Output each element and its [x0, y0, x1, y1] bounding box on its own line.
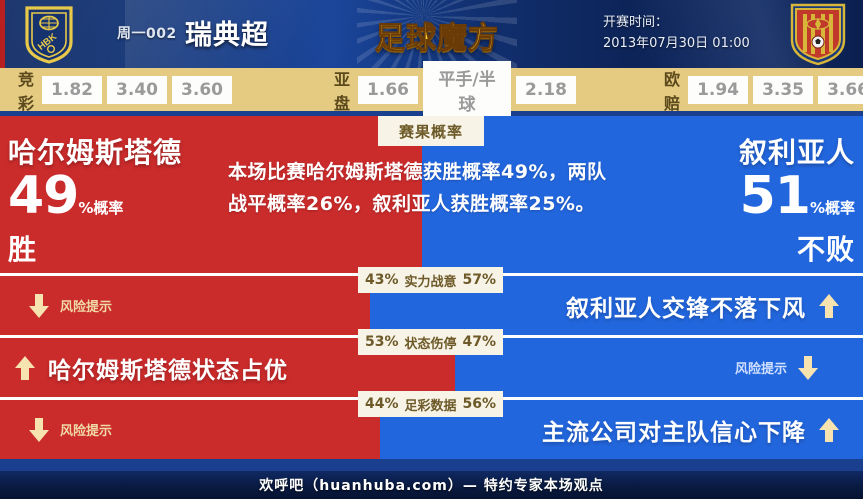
arrow-down-icon: [28, 293, 50, 319]
odds-group-oupei: 欧赔 1.94 3.35 3.66: [664, 66, 863, 114]
away-percent-value: 51: [740, 166, 810, 226]
home-percent-line: 49%概率: [8, 170, 223, 234]
row1-metric-label: 实力战意: [405, 271, 457, 290]
header-bar: HBK 周一002 瑞典超 足球魔方 开赛时间： 2013年07月30日 01:…: [0, 0, 863, 68]
away-percent-line: 51%概率: [640, 170, 855, 234]
row1-right-percent: 57%: [463, 272, 497, 288]
comparison-row-betting: 44% 足彩数据 56% 风险提示 主流公司对主队信心下降: [0, 400, 863, 459]
halmstad-crest-icon: HBK: [21, 4, 77, 64]
odds-bar: 竞彩 1.82 3.40 3.60 亚盘 1.66 平手/半球 2.18 欧赔 …: [0, 68, 863, 111]
row3-home-risk: 风险提示: [28, 400, 112, 459]
away-verdict: 不败: [640, 234, 855, 266]
probability-panel: 赛果概率 哈尔姆斯塔德 49%概率 胜 本场比赛哈尔姆斯塔德获胜概率49%，两队…: [0, 116, 863, 273]
row1-away-label: 叙利亚人交锋不落下风: [566, 289, 806, 323]
row3-left-percent: 44%: [365, 396, 399, 412]
row1-home-risk-label: 风险提示: [60, 296, 112, 315]
brand-logo-text: 足球魔方: [357, 13, 517, 57]
odds-group-jingcai: 竞彩 1.82 3.40 3.60: [18, 66, 237, 114]
odds-cell-jingcai-2[interactable]: 3.40: [107, 76, 167, 104]
odds-cell-oupei-1[interactable]: 1.94: [688, 76, 748, 104]
infographic-root: HBK 周一002 瑞典超 足球魔方 开赛时间： 2013年07月30日 01:…: [0, 0, 863, 499]
league-name: 瑞典超: [185, 13, 269, 52]
odds-label-oupei: 欧赔: [664, 66, 681, 114]
match-number: 周一002: [117, 23, 177, 43]
row2-metric-label: 状态伤停: [405, 333, 457, 352]
home-percent-suffix: %概率: [78, 199, 123, 217]
odds-cell-yapan-2[interactable]: 2.18: [516, 76, 576, 104]
kickoff-value: 2013年07月30日 01:00: [603, 33, 783, 54]
away-summary-block: 叙利亚人 51%概率 不败: [640, 136, 855, 266]
odds-cell-jingcai-3[interactable]: 3.60: [172, 76, 232, 104]
row1-metric-chip: 43% 实力战意 57%: [358, 267, 503, 293]
footer-credit: 欢呼吧（huanhuba.com）— 特约专家本场观点: [259, 475, 603, 495]
row2-home-text: 哈尔姆斯塔德状态占优: [14, 338, 344, 397]
match-summary-text: 本场比赛哈尔姆斯塔德获胜概率49%，两队战平概率26%，叙利亚人获胜概率25%。: [228, 156, 623, 220]
odds-cell-jingcai-1[interactable]: 1.82: [42, 76, 102, 104]
row3-away-label: 主流公司对主队信心下降: [542, 413, 806, 447]
home-percent-value: 49: [8, 166, 78, 226]
syrianska-crest-icon: [787, 2, 849, 66]
row3-metric-chip: 44% 足彩数据 56%: [358, 391, 503, 417]
row2-away-risk-label: 风险提示: [735, 358, 787, 377]
odds-cell-yapan-handicap[interactable]: 平手/半球: [423, 61, 511, 119]
footer-bar: 欢呼吧（huanhuba.com）— 特约专家本场观点: [0, 471, 863, 499]
row1-left-percent: 43%: [365, 272, 399, 288]
home-team-name: 哈尔姆斯塔德: [8, 136, 223, 170]
arrow-down-icon: [797, 355, 819, 381]
row3-metric-label: 足彩数据: [405, 395, 457, 414]
home-verdict: 胜: [8, 234, 223, 266]
comparison-row-form: 53% 状态伤停 47% 哈尔姆斯塔德状态占优 风险提示: [0, 338, 863, 397]
odds-cell-oupei-3[interactable]: 3.66: [818, 76, 863, 104]
arrow-up-icon: [14, 355, 36, 381]
comparison-row-strength: 43% 实力战意 57% 风险提示 叙利亚人交锋不落下风: [0, 276, 863, 335]
arrow-up-icon: [818, 417, 840, 443]
row2-away-risk: 风险提示: [735, 338, 819, 397]
row2-metric-chip: 53% 状态伤停 47%: [358, 329, 503, 355]
away-percent-suffix: %概率: [810, 199, 855, 217]
odds-cell-yapan-1[interactable]: 1.66: [358, 76, 418, 104]
kickoff-label: 开赛时间：: [603, 12, 783, 33]
row1-home-risk: 风险提示: [28, 276, 112, 335]
arrow-up-icon: [818, 293, 840, 319]
arrow-down-icon: [28, 417, 50, 443]
row2-left-percent: 53%: [365, 334, 399, 350]
kickoff-time: 开赛时间： 2013年07月30日 01:00: [603, 12, 783, 54]
brand-logo[interactable]: 足球魔方: [357, 0, 517, 68]
odds-label-yapan: 亚盘: [334, 66, 351, 114]
row3-away-text: 主流公司对主队信心下降: [460, 400, 840, 459]
row2-home-label: 哈尔姆斯塔德状态占优: [48, 351, 288, 385]
row3-home-risk-label: 风险提示: [60, 420, 112, 439]
odds-cell-oupei-2[interactable]: 3.35: [753, 76, 813, 104]
row1-away-text: 叙利亚人交锋不落下风: [500, 276, 840, 335]
row3-right-percent: 56%: [463, 396, 497, 412]
tab-result-probability[interactable]: 赛果概率: [378, 116, 484, 146]
away-team-name: 叙利亚人: [640, 136, 855, 170]
home-summary-block: 哈尔姆斯塔德 49%概率 胜: [8, 136, 223, 266]
odds-label-jingcai: 竞彩: [18, 66, 35, 114]
row2-right-percent: 47%: [463, 334, 497, 350]
odds-group-yapan: 亚盘 1.66 平手/半球 2.18: [334, 61, 581, 119]
